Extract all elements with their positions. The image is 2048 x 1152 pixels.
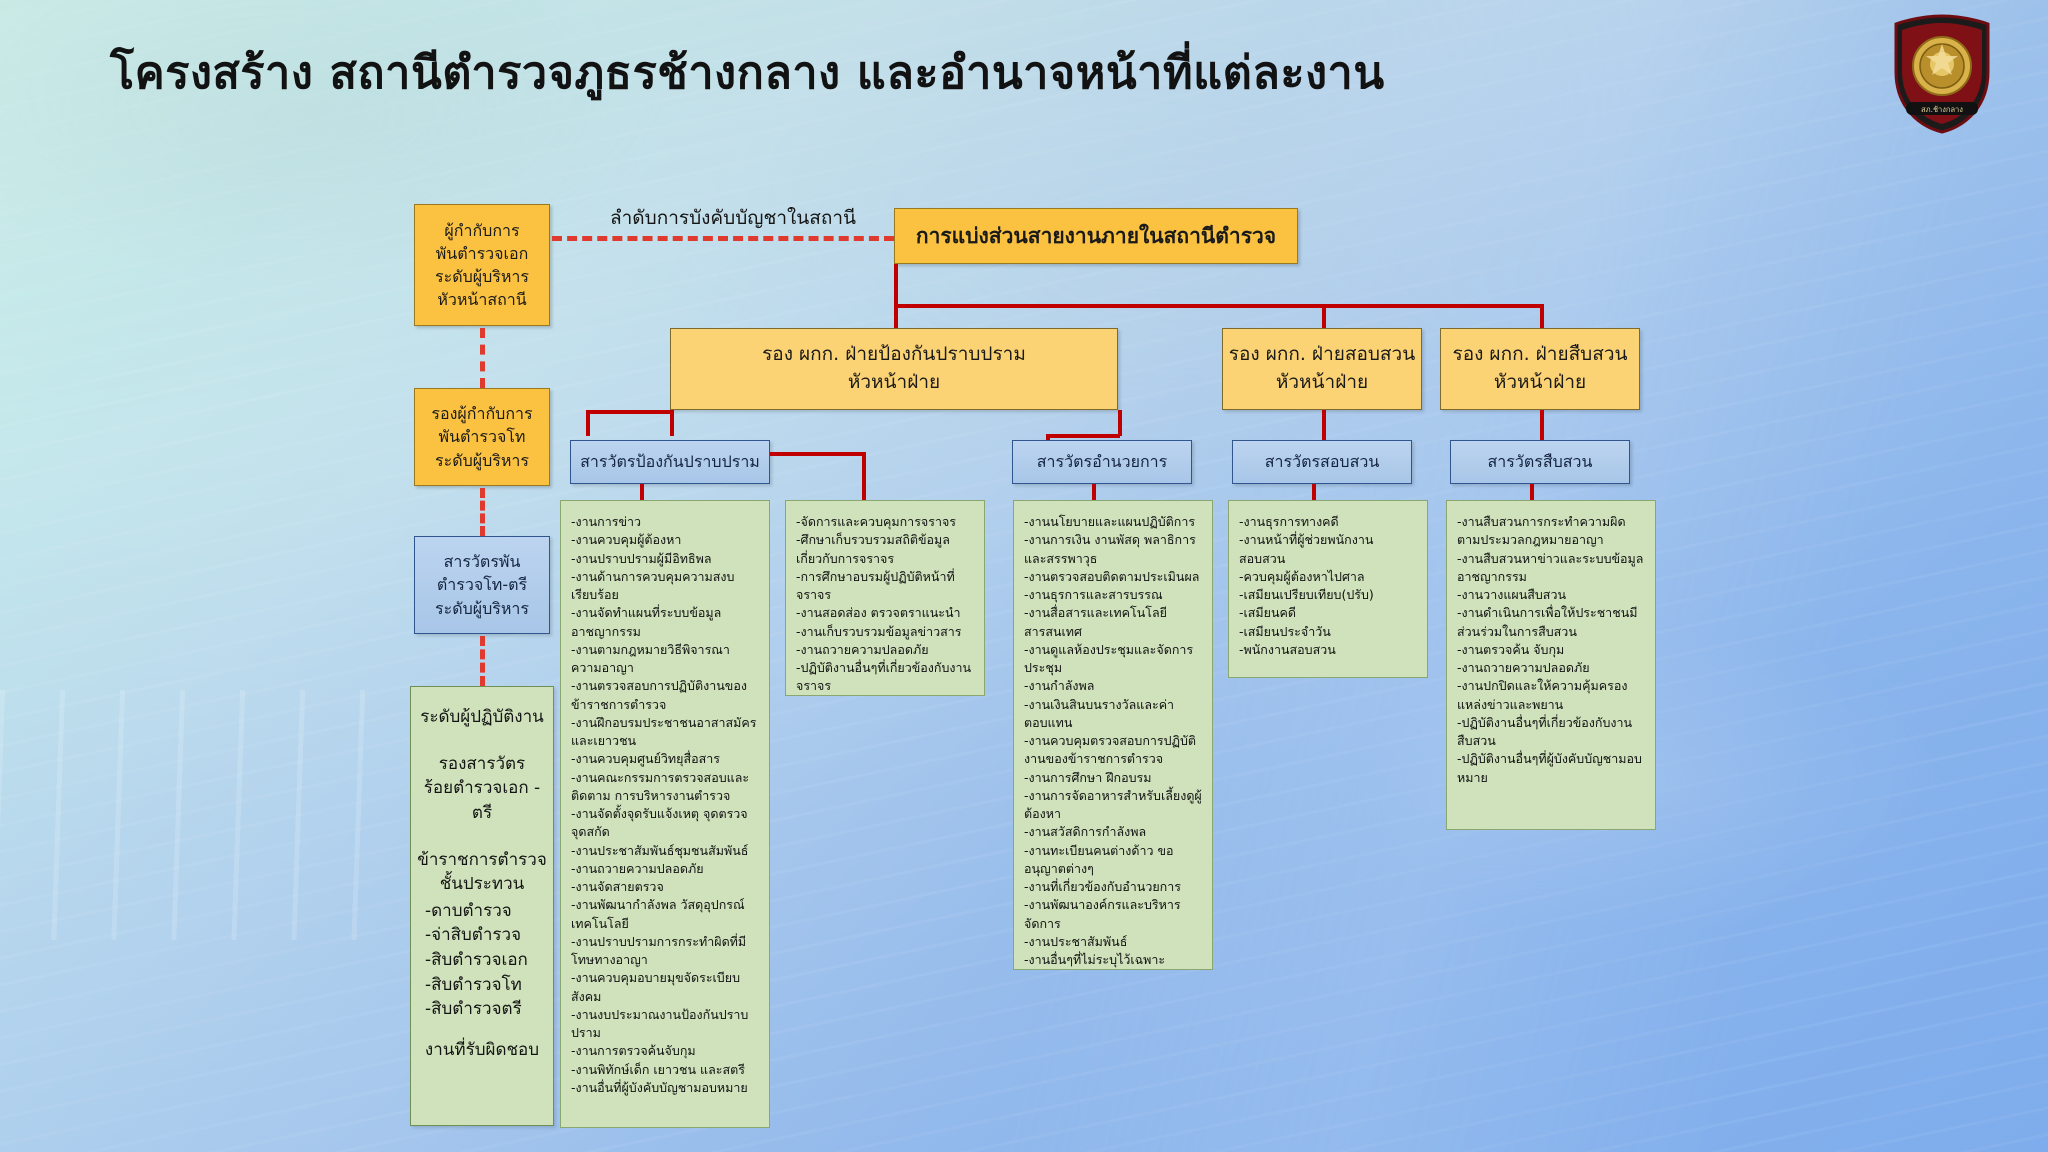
deputy-prevention-line1: รอง ผกก. ฝ่ายป้องกันปราบปราม <box>762 341 1026 369</box>
deputy-intel-line1: รอง ผกก. ฝ่ายสืบสวน <box>1453 341 1628 369</box>
duty-item: -งานธุรการทางคดี <box>1239 513 1418 531</box>
duty-item: -งานสืบสวนหาข่าวและระบบข้อมูลอาชญากรรม <box>1457 550 1646 587</box>
connector-case-to-section <box>1322 410 1326 440</box>
section-header-prevention: สารวัตรป้องกันปราบปราม <box>570 440 770 484</box>
duty-item: -งานฝึกอบรมประชาชนอาสาสมัครและเยาวชน <box>571 714 760 751</box>
deputy-line2: พันตำรวจโท <box>439 425 526 448</box>
duty-item: -งานปราบปรามการกระทำผิดที่มีโทษทางอาญา <box>571 933 760 970</box>
section-prevention-label: สารวัตรป้องกันปราบปราม <box>580 450 760 473</box>
connector-drop-prevention <box>894 304 898 328</box>
box-inspector: สารวัตรพัน ตำรวจโท-ตรี ระดับผู้บริหาร <box>414 536 550 634</box>
duty-item: -งานงบประมาณงานป้องกันปราบปราม <box>571 1006 760 1043</box>
rank-item: -จ่าสิบตำรวจ <box>425 923 553 948</box>
box-deputy-prevention: รอง ผกก. ฝ่ายป้องกันปราบปราม หัวหน้าฝ่าย <box>670 328 1118 410</box>
duty-item: -งานอื่นๆที่ไม่ระบุไว้เฉพาะ <box>1024 951 1203 969</box>
duty-item: -งานสวัสดิการกำลังพล <box>1024 823 1203 841</box>
operational-deputy-2: ร้อยตำรวจเอก - <box>424 776 540 801</box>
duty-item: -พนักงานสอบสวน <box>1239 641 1418 659</box>
duty-item: -งานจัดทำแผนที่ระบบข้อมูลอาชญากรรม <box>571 604 760 641</box>
duty-item: -งานการเงิน งานพัสดุ พลาธิการและสรรพาวุธ <box>1024 531 1203 568</box>
connector-admin-bridge <box>1046 434 1120 438</box>
commander-line1: ผู้กำกับการ <box>444 219 519 242</box>
page-title: โครงสร้าง สถานีตำรวจภูธรช้างกลาง และอำนา… <box>110 36 1760 108</box>
chain-dashed-vertical-2 <box>480 488 485 536</box>
deputy-prevention-line2: หัวหน้าฝ่าย <box>848 369 940 397</box>
inspector-line2: ตำรวจโท-ตรี <box>437 573 527 596</box>
duty-column-administration: -งานนโยบายและแผนปฏิบัติการ -งานการเงิน ง… <box>1013 500 1213 970</box>
svg-text:สภ.ช้างกลาง: สภ.ช้างกลาง <box>1921 105 1963 114</box>
connector-drop-intel <box>1540 304 1544 328</box>
connector-root-bus <box>894 304 1544 308</box>
duty-column-prevention: -งานการข่าว -งานควบคุมผู้ต้องหา -งานปราบ… <box>560 500 770 1128</box>
duty-item: -งานถวายความปลอดภัย <box>796 641 975 659</box>
chain-of-command-caption: ลำดับการบังคับบัญชาในสถานี <box>610 203 856 233</box>
operational-head: ระดับผู้ปฏิบัติงาน <box>420 705 544 730</box>
duty-item: -งานสอดส่อง ตรวจตราแนะนำ <box>796 604 975 622</box>
commander-line3: ระดับผู้บริหาร <box>435 265 529 288</box>
duty-item: -งานพัฒนากำลังพล วัสดุอุปกรณ์เทคโนโลยี <box>571 896 760 933</box>
operational-footer: งานที่รับผิดชอบ <box>425 1038 539 1063</box>
box-deputy-case: รอง ผกก. ฝ่ายสอบสวน หัวหน้าฝ่าย <box>1222 328 1422 410</box>
duty-item: -งานปกปิดและให้ความคุ้มครองแหล่งข่าวและพ… <box>1457 677 1646 714</box>
duty-item: -งานควบคุมผู้ต้องหา <box>571 531 760 549</box>
connector-admin-down <box>1118 410 1122 436</box>
operational-deputy-1: รองสารวัตร <box>439 752 525 777</box>
duty-column-intelligence: -งานสืบสวนการกระทำความผิดตามประมวลกฎหมาย… <box>1446 500 1656 830</box>
duty-item: -ปฏิบัติงานอื่นๆที่เกี่ยวข้องกับงานสืบสว… <box>1457 714 1646 751</box>
connector-intel-to-section <box>1540 410 1544 440</box>
duty-item: -งานตรวจค้น จับกุม <box>1457 641 1646 659</box>
duty-column-traffic: -จัดการและควบคุมการจราจร -ศึกษาเก็บรวบรว… <box>785 500 985 696</box>
duty-item: -งานเก็บรวบรวมข้อมูลข่าวสาร <box>796 623 975 641</box>
commander-line2: พันตำรวจเอก <box>436 242 529 265</box>
commander-line4: หัวหน้าสถานี <box>437 288 526 311</box>
noncom-head-1: ข้าราชการตำรวจ <box>417 848 547 873</box>
duty-item: -งานตรวจสอบติดตามประเมินผล <box>1024 568 1203 586</box>
rank-item: -สิบตำรวจโท <box>425 973 553 998</box>
connector-section-prevention-down <box>640 484 644 500</box>
rank-list: -ดาบตำรวจ -จ่าสิบตำรวจ -สิบตำรวจเอก -สิบ… <box>411 899 553 1022</box>
duty-item: -งานเงินสินบนรางวัลและค่าตอบแทน <box>1024 696 1203 733</box>
deputy-line3: ระดับผู้บริหาร <box>435 449 529 472</box>
duty-item: -เสมียนคดี <box>1239 604 1418 622</box>
duty-item: -จัดการและควบคุมการจราจร <box>796 513 975 531</box>
connector-drop-case <box>1322 304 1326 328</box>
duty-item: -งานการตรวจค้นจับกุม <box>571 1042 760 1060</box>
duty-item: -งานดูแลห้องประชุมและจัดการประชุม <box>1024 641 1203 678</box>
section-case-label: สารวัตรสอบสวน <box>1265 450 1380 473</box>
division-root-label: การแบ่งส่วนสายงานภายในสถานีตำรวจ <box>916 221 1276 251</box>
connector-prevention-to-section <box>586 410 590 436</box>
rank-item: -ดาบตำรวจ <box>425 899 553 924</box>
duty-item: -งานทะเบียนคนต่างด้าว ขออนุญาตต่างๆ <box>1024 842 1203 879</box>
box-operational-level: ระดับผู้ปฏิบัติงาน รองสารวัตร ร้อยตำรวจเ… <box>410 686 554 1126</box>
box-deputy-intel: รอง ผกก. ฝ่ายสืบสวน หัวหน้าฝ่าย <box>1440 328 1640 410</box>
operational-deputy-3: ตรี <box>472 801 492 826</box>
connector-section-traffic-down <box>862 452 866 500</box>
duty-item: -งานปราบปรามผู้มีอิทธิพล <box>571 550 760 568</box>
duty-item: -งานประชาสัมพันธ์ชุมชนสัมพันธ์ <box>571 842 760 860</box>
deputy-case-line1: รอง ผกก. ฝ่ายสอบสวน <box>1229 341 1415 369</box>
duty-item: -งานคณะกรรมการตรวจสอบและติดตาม การบริหาร… <box>571 769 760 806</box>
deputy-intel-line2: หัวหน้าฝ่าย <box>1494 369 1586 397</box>
connector-prevention-left <box>586 410 674 414</box>
duty-item: -เสมียนเปรียบเทียบ(ปรับ) <box>1239 586 1418 604</box>
connector-root-down <box>894 264 898 308</box>
box-division-root: การแบ่งส่วนสายงานภายในสถานีตำรวจ <box>894 208 1298 264</box>
duty-item: -งานจัดสายตรวจ <box>571 878 760 896</box>
duty-item: -งานที่เกี่ยวข้องกับอำนวยการ <box>1024 878 1203 896</box>
duty-item: -งานควบคุมอบายมุขจัดระเบียบสังคม <box>571 969 760 1006</box>
box-commander: ผู้กำกับการ พันตำรวจเอก ระดับผู้บริหาร ห… <box>414 204 550 326</box>
duty-item: -งานพิทักษ์เด็ก เยาวชน และสตรี <box>571 1061 760 1079</box>
duty-column-case: -งานธุรการทางคดี -งานหน้าที่ผู้ช่วยพนักง… <box>1228 500 1428 678</box>
section-intel-label: สารวัตรสืบสวน <box>1488 450 1593 473</box>
duty-item: -งานควบคุมตรวจสอบการปฏิบัติงานของข้าราชก… <box>1024 732 1203 769</box>
noncom-head-2: ชั้นประทวน <box>440 872 525 897</box>
rank-item: -สิบตำรวจตรี <box>425 997 553 1022</box>
duty-item: -งานหน้าที่ผู้ช่วยพนักงานสอบสวน <box>1239 531 1418 568</box>
box-deputy-commander: รองผู้กำกับการ พันตำรวจโท ระดับผู้บริหาร <box>414 388 550 486</box>
inspector-line3: ระดับผู้บริหาร <box>435 597 529 620</box>
duty-item: -งานอื่นที่ผู้บังคับบัญชามอบหมาย <box>571 1079 760 1097</box>
deputy-case-line2: หัวหน้าฝ่าย <box>1276 369 1368 397</box>
inspector-line1: สารวัตรพัน <box>444 550 521 573</box>
section-header-administration: สารวัตรอำนวยการ <box>1012 440 1192 484</box>
duty-item: -งานวางแผนสืบสวน <box>1457 586 1646 604</box>
section-administration-label: สารวัตรอำนวยการ <box>1037 450 1167 473</box>
duty-item: -งานการข่าว <box>571 513 760 531</box>
duty-item: -งานอื่นที่ผู้บังคับบัญชามอบหมาย <box>1024 969 1203 970</box>
duty-item: -งานการศึกษา ฝึกอบรม <box>1024 769 1203 787</box>
connector-section-intel-down <box>1530 484 1534 500</box>
duty-item: -งานดำเนินการเพื่อให้ประชาชนมีส่วนร่วมใน… <box>1457 604 1646 641</box>
duty-item: -การศึกษาอบรมผู้ปฏิบัติหน้าที่จราจร <box>796 568 975 605</box>
police-emblem-icon: สภ.ช้างกลาง <box>1888 14 1996 134</box>
rank-item: -สิบตำรวจเอก <box>425 948 553 973</box>
duty-item: -งานตรวจสอบการปฏิบัติงานของข้าราชการตำรว… <box>571 677 760 714</box>
connector-section-admin-down <box>1092 484 1096 500</box>
connector-section-traffic-bridge <box>770 452 866 456</box>
duty-item: -งานถวายความปลอดภัย <box>1457 659 1646 677</box>
duty-item: -ปฏิบัติงานอื่นๆที่เกี่ยวข้องกับงานจราจร <box>796 659 975 696</box>
org-chart-canvas: โครงสร้าง สถานีตำรวจภูธรช้างกลาง และอำนา… <box>0 0 2048 1152</box>
duty-item: -งานสืบสวนการกระทำความผิดตามประมวลกฎหมาย… <box>1457 513 1646 550</box>
section-header-case: สารวัตรสอบสวน <box>1232 440 1412 484</box>
duty-item: -งานประชาสัมพันธ์ <box>1024 933 1203 951</box>
duty-item: -งานควบคุมศูนย์วิทยุสื่อสาร <box>571 750 760 768</box>
duty-item: -งานธุรการและสารบรรณ <box>1024 586 1203 604</box>
duty-item: -งานถวายความปลอดภัย <box>571 860 760 878</box>
duty-item: -งานพัฒนาองค์กรและบริหารจัดการ <box>1024 896 1203 933</box>
duty-item: -งานนโยบายและแผนปฏิบัติการ <box>1024 513 1203 531</box>
chain-dashed-vertical-1 <box>480 328 485 388</box>
section-header-intel: สารวัตรสืบสวน <box>1450 440 1630 484</box>
duty-item: -งานตามกฎหมายวิธีพิจารณาความอาญา <box>571 641 760 678</box>
duty-item: -งานด้านการควบคุมความสงบเรียบร้อย <box>571 568 760 605</box>
duty-item: -ควบคุมผู้ต้องหาไปศาล <box>1239 568 1418 586</box>
duty-item: -งานการจัดอาหารสำหรับเลี้ยงดูผู้ต้องหา <box>1024 787 1203 824</box>
duty-item: -งานจัดตั้งจุดรับแจ้งเหตุ จุดตรวจจุดสกัด <box>571 805 760 842</box>
duty-item: -เสมียนประจำวัน <box>1239 623 1418 641</box>
chain-dashed-connector <box>552 236 894 241</box>
duty-item: -ศึกษาเก็บรวบรวมสถิติข้อมูลเกี่ยวกับการจ… <box>796 531 975 568</box>
duty-item: -ปฏิบัติงานอื่นๆที่ผู้บังคับบัญชามอบหมาย <box>1457 750 1646 787</box>
deputy-line1: รองผู้กำกับการ <box>431 402 532 425</box>
chain-dashed-vertical-3 <box>480 636 485 686</box>
duty-item: -งานสื่อสารและเทคโนโลยีสารสนเทศ <box>1024 604 1203 641</box>
connector-section-case-down <box>1312 484 1316 500</box>
duty-item: -งานกำลังพล <box>1024 677 1203 695</box>
